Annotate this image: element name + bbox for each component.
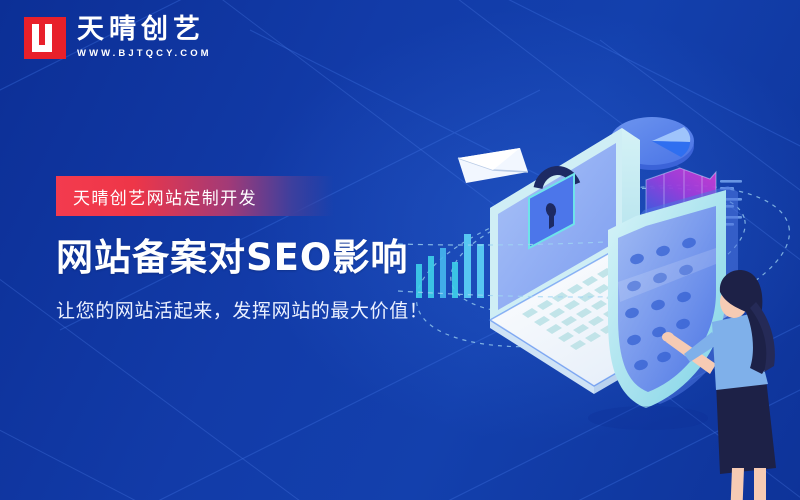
logo-text-block: 天晴创艺 WWW.BJTQCY.COM (77, 16, 212, 59)
illustration (398, 96, 800, 500)
floor-shadow (588, 406, 708, 430)
promo-banner: 天晴创艺 WWW.BJTQCY.COM 天晴创艺网站定制开发 网站备案对SEO影… (0, 0, 800, 500)
logo-company-name: 天晴创艺 (77, 16, 212, 44)
logo-website-url: WWW.BJTQCY.COM (77, 48, 212, 59)
tagline-text: 天晴创艺网站定制开发 (56, 184, 257, 209)
tagline-badge: 天晴创艺网站定制开发 (56, 176, 334, 216)
logo-mark-icon (24, 17, 66, 59)
envelope-icon (458, 148, 528, 183)
brand-logo[interactable]: 天晴创艺 WWW.BJTQCY.COM (24, 16, 212, 59)
